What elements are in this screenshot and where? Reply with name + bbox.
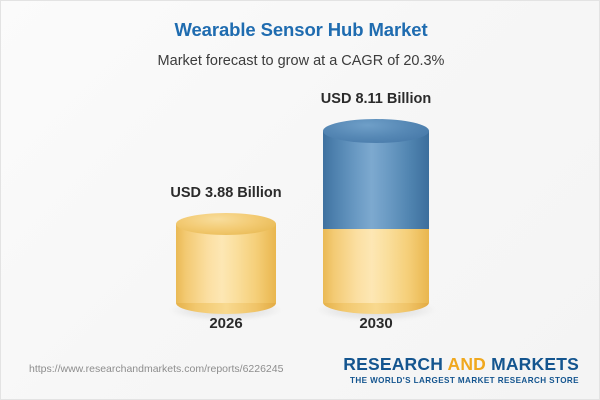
source-url[interactable]: https://www.researchandmarkets.com/repor… — [29, 363, 283, 375]
logo-tagline: THE WORLD'S LARGEST MARKET RESEARCH STOR… — [343, 375, 579, 386]
logo-word-markets: MARKETS — [491, 354, 579, 374]
segment-top-cap — [176, 213, 276, 235]
bar-segment-2026-base — [176, 213, 276, 314]
research-and-markets-logo[interactable]: RESEARCH AND MARKETS THE WORLD'S LARGEST… — [343, 355, 579, 386]
market-infographic: Wearable Sensor Hub Market Market foreca… — [0, 0, 600, 400]
chart-plot-area: USD 3.88 Billion 2026 USD 8.11 Billion — [1, 1, 600, 346]
cylinder-2026 — [176, 213, 276, 313]
segment-top-cap — [323, 119, 429, 143]
bar-segment-2030-growth — [323, 119, 429, 229]
logo-wordmark: RESEARCH AND MARKETS — [343, 355, 579, 374]
segment-body — [176, 224, 276, 303]
bar-group-2026: USD 3.88 Billion 2026 — [164, 1, 288, 346]
segment-body — [323, 223, 429, 303]
value-label-2026: USD 3.88 Billion — [170, 185, 281, 201]
cylinder-2030 — [323, 119, 429, 313]
logo-word-and: AND — [447, 354, 486, 374]
logo-word-research: RESEARCH — [343, 354, 443, 374]
value-label-2030: USD 8.11 Billion — [321, 91, 431, 107]
footer: https://www.researchandmarkets.com/repor… — [1, 347, 600, 399]
bar-group-2030: USD 8.11 Billion 2030 — [314, 1, 438, 346]
category-label-2026: 2026 — [209, 315, 242, 332]
segment-body — [323, 131, 429, 229]
category-label-2030: 2030 — [359, 315, 392, 332]
bar-segment-2030-base — [323, 223, 429, 313]
